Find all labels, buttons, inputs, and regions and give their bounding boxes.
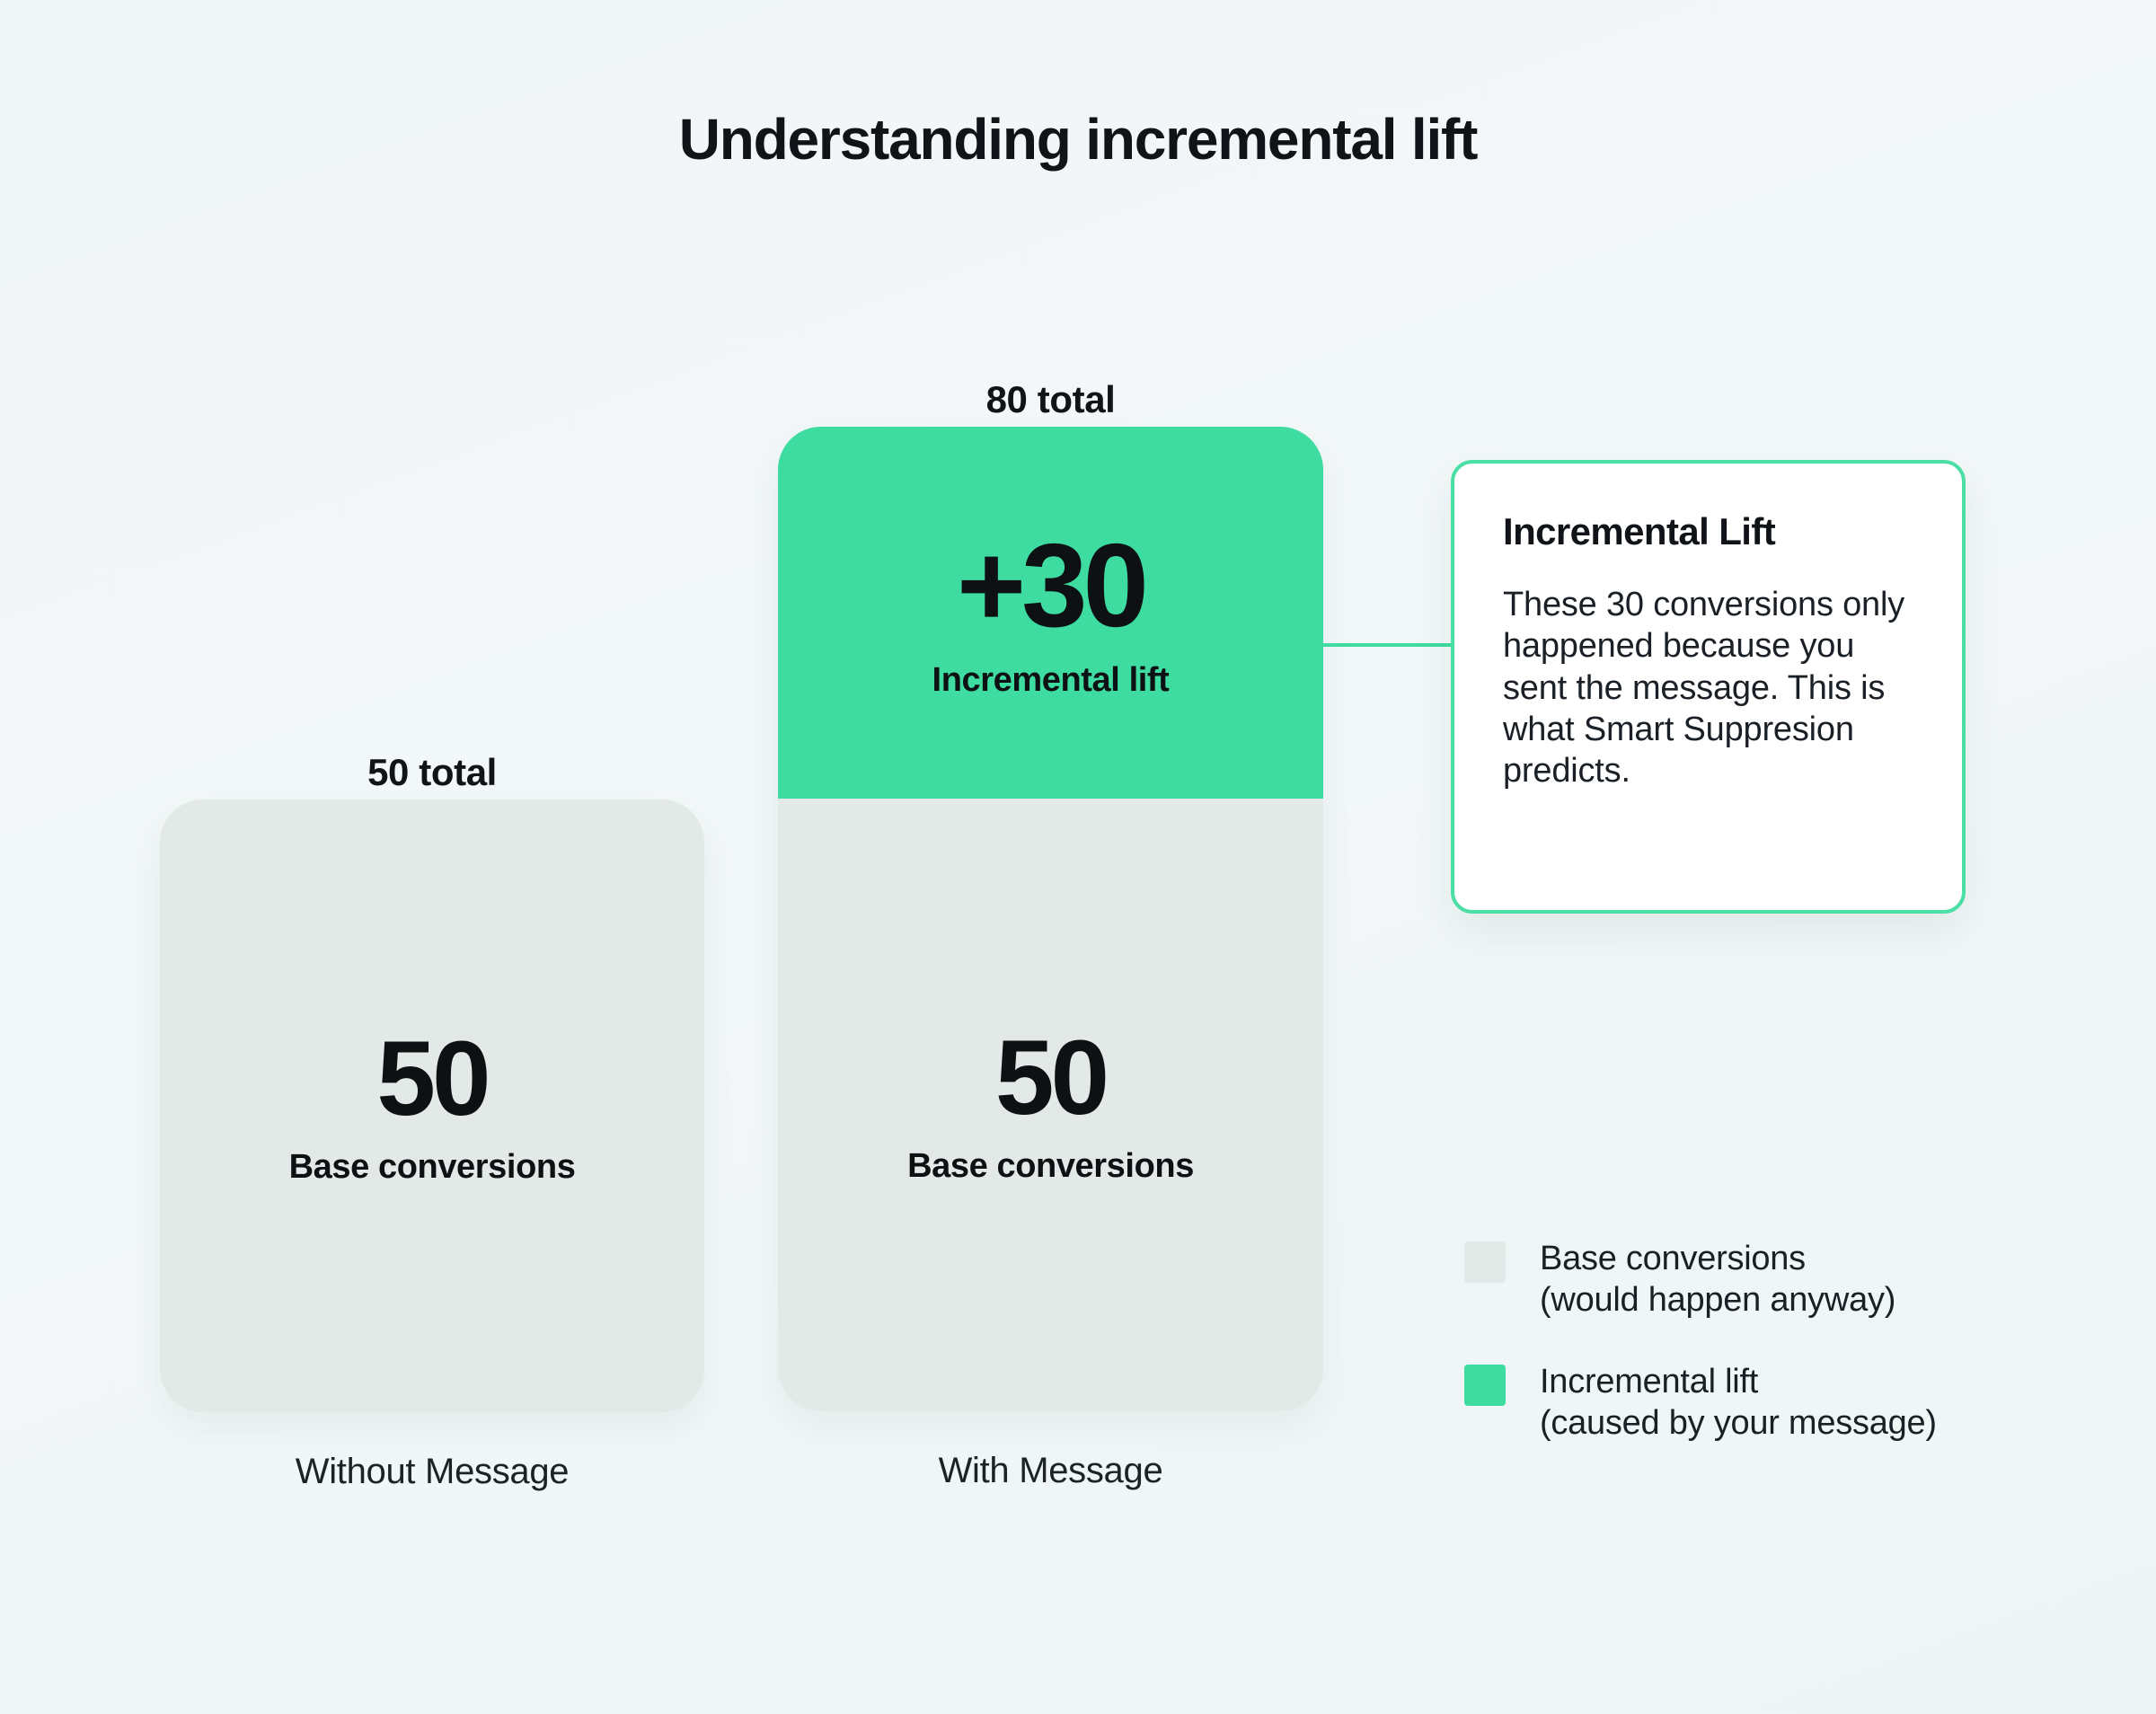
callout-connector-line — [1321, 643, 1454, 647]
bar-segment-base-without-message: 50 Base conversions — [160, 800, 704, 1412]
bar-group-without-message: 50 total 50 Base conversions Without Mes… — [160, 746, 704, 1492]
legend-item-incremental-lift: Incremental lift (caused by your message… — [1464, 1361, 2093, 1445]
lift-caption: Incremental lift — [932, 661, 1170, 700]
bar-total-label-without-message: 50 total — [160, 746, 704, 800]
chart-legend: Base conversions (would happen anyway) I… — [1464, 1238, 2093, 1483]
legend-label-base: Base conversions (would happen anyway) — [1540, 1238, 1895, 1321]
legend-swatch-lift-icon — [1464, 1365, 1506, 1406]
bar-group-with-message: 80 total +30 Incremental lift 50 Base co… — [778, 373, 1323, 1491]
legend-label-base-sub: (would happen anyway) — [1540, 1279, 1895, 1321]
bar-without-message[interactable]: 50 Base conversions — [160, 800, 704, 1412]
incremental-lift-callout: Incremental Lift These 30 conversions on… — [1451, 460, 1966, 914]
bar-total-label-with-message: 80 total — [778, 373, 1323, 427]
legend-label-base-main: Base conversions — [1540, 1238, 1895, 1279]
legend-label-lift-main: Incremental lift — [1540, 1361, 1937, 1402]
base-caption-with-message: Base conversions — [907, 1147, 1194, 1186]
legend-item-base-conversions: Base conversions (would happen anyway) — [1464, 1238, 2093, 1321]
axis-label-with-message: With Message — [778, 1451, 1323, 1491]
callout-body: These 30 conversions only happened becau… — [1503, 584, 1913, 792]
callout-title: Incremental Lift — [1503, 510, 1913, 553]
legend-label-lift: Incremental lift (caused by your message… — [1540, 1361, 1937, 1445]
lift-value: +30 — [957, 526, 1144, 645]
bar-segment-incremental-lift: +30 Incremental lift — [778, 427, 1323, 799]
bar-segment-base-with-message: 50 Base conversions — [778, 799, 1323, 1411]
bar-with-message[interactable]: +30 Incremental lift 50 Base conversions — [778, 427, 1323, 1411]
base-caption-without-message: Base conversions — [289, 1148, 576, 1187]
legend-swatch-base-icon — [1464, 1241, 1506, 1283]
axis-label-without-message: Without Message — [160, 1452, 704, 1492]
base-value-without-message: 50 — [376, 1026, 487, 1132]
base-value-with-message: 50 — [995, 1025, 1106, 1131]
incremental-lift-chart: 50 total 50 Base conversions Without Mes… — [0, 0, 2156, 1714]
legend-label-lift-sub: (caused by your message) — [1540, 1402, 1937, 1444]
